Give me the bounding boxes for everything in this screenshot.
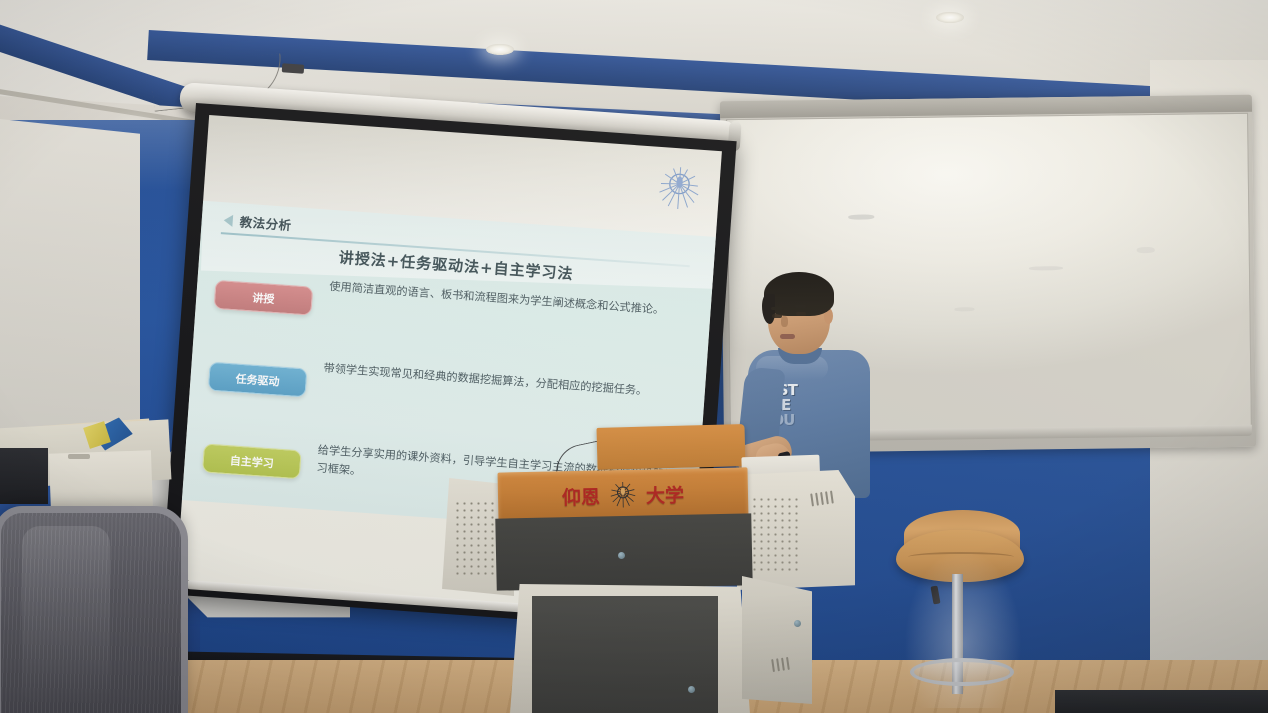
yangen-university-emblem-icon: [610, 482, 637, 509]
yangen-university-emblem-icon: [656, 165, 703, 212]
bar-stool[interactable]: [890, 508, 1050, 713]
eye-right: [796, 312, 806, 316]
screen-ceiling-mount: [282, 63, 305, 74]
slide-desc-2: 带领学生实现常见和经典的数据挖掘算法，分配相应的挖掘任务。: [323, 360, 648, 401]
mesh-office-chair[interactable]: [0, 508, 196, 713]
lectern-vent-slots: [810, 491, 834, 507]
lectern-right-wing: [737, 470, 855, 590]
stool-footrest-ring: [910, 658, 1014, 686]
lectern-side-lock[interactable]: [794, 620, 801, 627]
speaker-grille-left: [454, 500, 498, 578]
lectern-lock-upper[interactable]: [618, 552, 625, 559]
nameplate-left-text: 仰恩: [562, 482, 601, 510]
lectern-cabinet-lock[interactable]: [688, 686, 695, 693]
nose: [781, 316, 788, 327]
floor-shadow-right: [1055, 690, 1268, 713]
slide-header: 教法分析: [223, 210, 292, 234]
lectern-cabinet-door[interactable]: [532, 596, 718, 713]
slide-header-text: 教法分析: [239, 211, 292, 234]
lectern-base-side: [742, 576, 812, 704]
side-desk-shadow: [0, 448, 48, 504]
recessed-downlight-center: [486, 44, 514, 55]
laptop-screen: [596, 424, 745, 470]
stool-height-lever[interactable]: [930, 586, 940, 605]
classroom-photo: 教法分析 讲授法+任务驱动法+自主学习法 讲授 使用简洁直观的语言、板书和流程图…: [0, 0, 1268, 713]
eyebrow-right: [794, 305, 807, 308]
lectern[interactable]: 仰恩 大学: [442, 448, 852, 713]
nameplate-right-text: 大学: [646, 480, 685, 508]
lectern-base-vents: [771, 657, 790, 672]
lectern-front-panel: [495, 513, 752, 590]
stool-seam: [908, 552, 1014, 562]
cabinet-handle[interactable]: [68, 454, 90, 459]
slide-badge-2: 任务驱动: [208, 362, 308, 398]
recessed-downlight-right: [936, 12, 964, 23]
chair-highlight: [22, 526, 110, 706]
speaker-grille-right: [751, 496, 801, 574]
eyebrow-left: [771, 307, 784, 310]
mouth: [780, 334, 795, 339]
slide-badge-1: 讲授: [214, 280, 314, 316]
slide-row-2: 任务驱动 带领学生实现常见和经典的数据挖掘算法，分配相应的挖掘任务。: [208, 352, 690, 425]
triangle-bullet-icon: [223, 214, 233, 227]
slide-badge-3: 自主学习: [202, 443, 302, 479]
